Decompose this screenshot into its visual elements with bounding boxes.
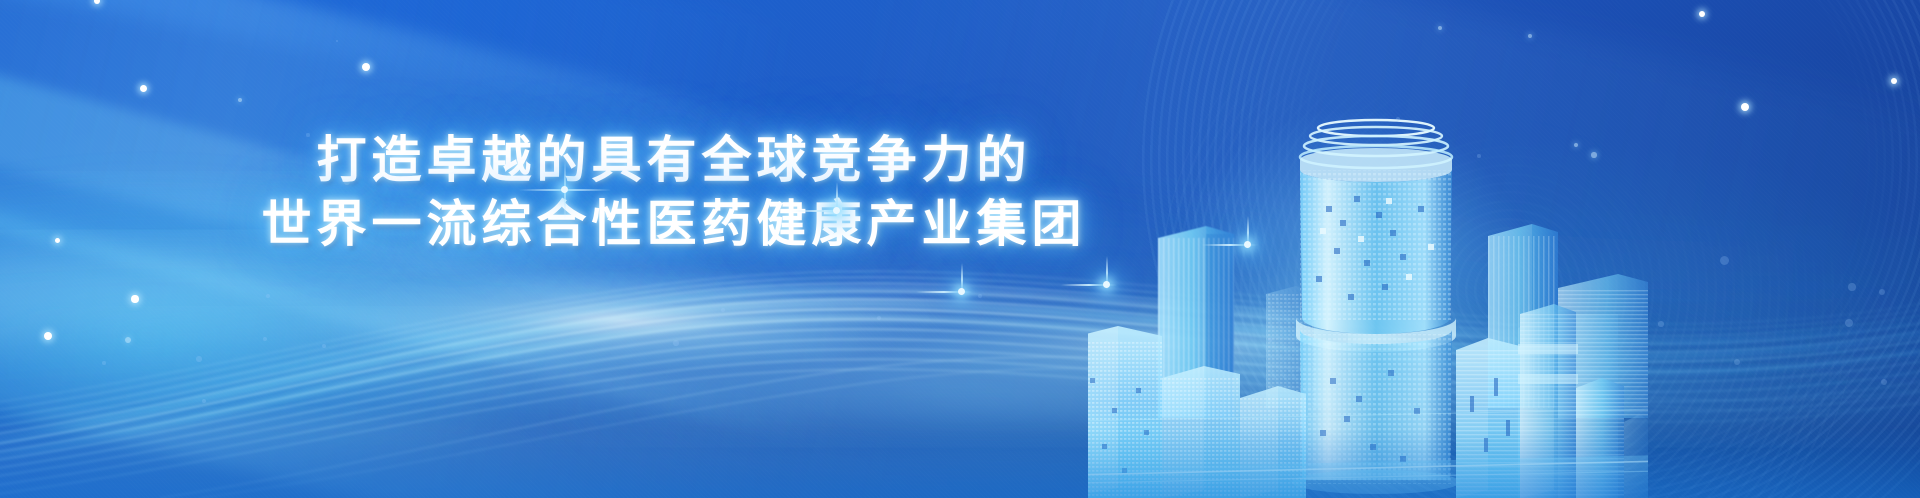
bokeh-particle (196, 356, 201, 361)
bokeh-particle (1528, 34, 1532, 38)
bokeh-particle (263, 337, 267, 341)
bokeh-particle (102, 361, 106, 365)
bokeh-particle (1845, 319, 1853, 327)
bokeh-particle (1879, 289, 1885, 295)
bokeh-particle (1720, 256, 1729, 265)
bokeh-particle (1591, 152, 1596, 157)
bokeh-particle (131, 295, 138, 302)
bokeh-particle (55, 238, 60, 243)
bokeh-particle (1574, 143, 1578, 147)
bokeh-particle (1477, 154, 1481, 158)
bokeh-particle (125, 337, 131, 343)
bokeh-particle (978, 294, 982, 298)
bokeh-particle (1396, 117, 1400, 121)
city-skyline-illustration (1088, 78, 1648, 498)
bokeh-particle (1848, 283, 1855, 290)
bokeh-particle (1891, 78, 1897, 84)
hero-banner: 打造卓越的具有全球竞争力的 世界一流综合性医药健康产业集团 (0, 0, 1920, 498)
bokeh-particle (44, 332, 52, 340)
bokeh-particle (673, 340, 678, 345)
bokeh-particle (1881, 379, 1887, 385)
bokeh-particle (1658, 321, 1663, 326)
bokeh-particle (344, 179, 350, 185)
bokeh-particle (140, 85, 147, 92)
bokeh-particle (306, 133, 309, 136)
bokeh-particle (1741, 103, 1749, 111)
